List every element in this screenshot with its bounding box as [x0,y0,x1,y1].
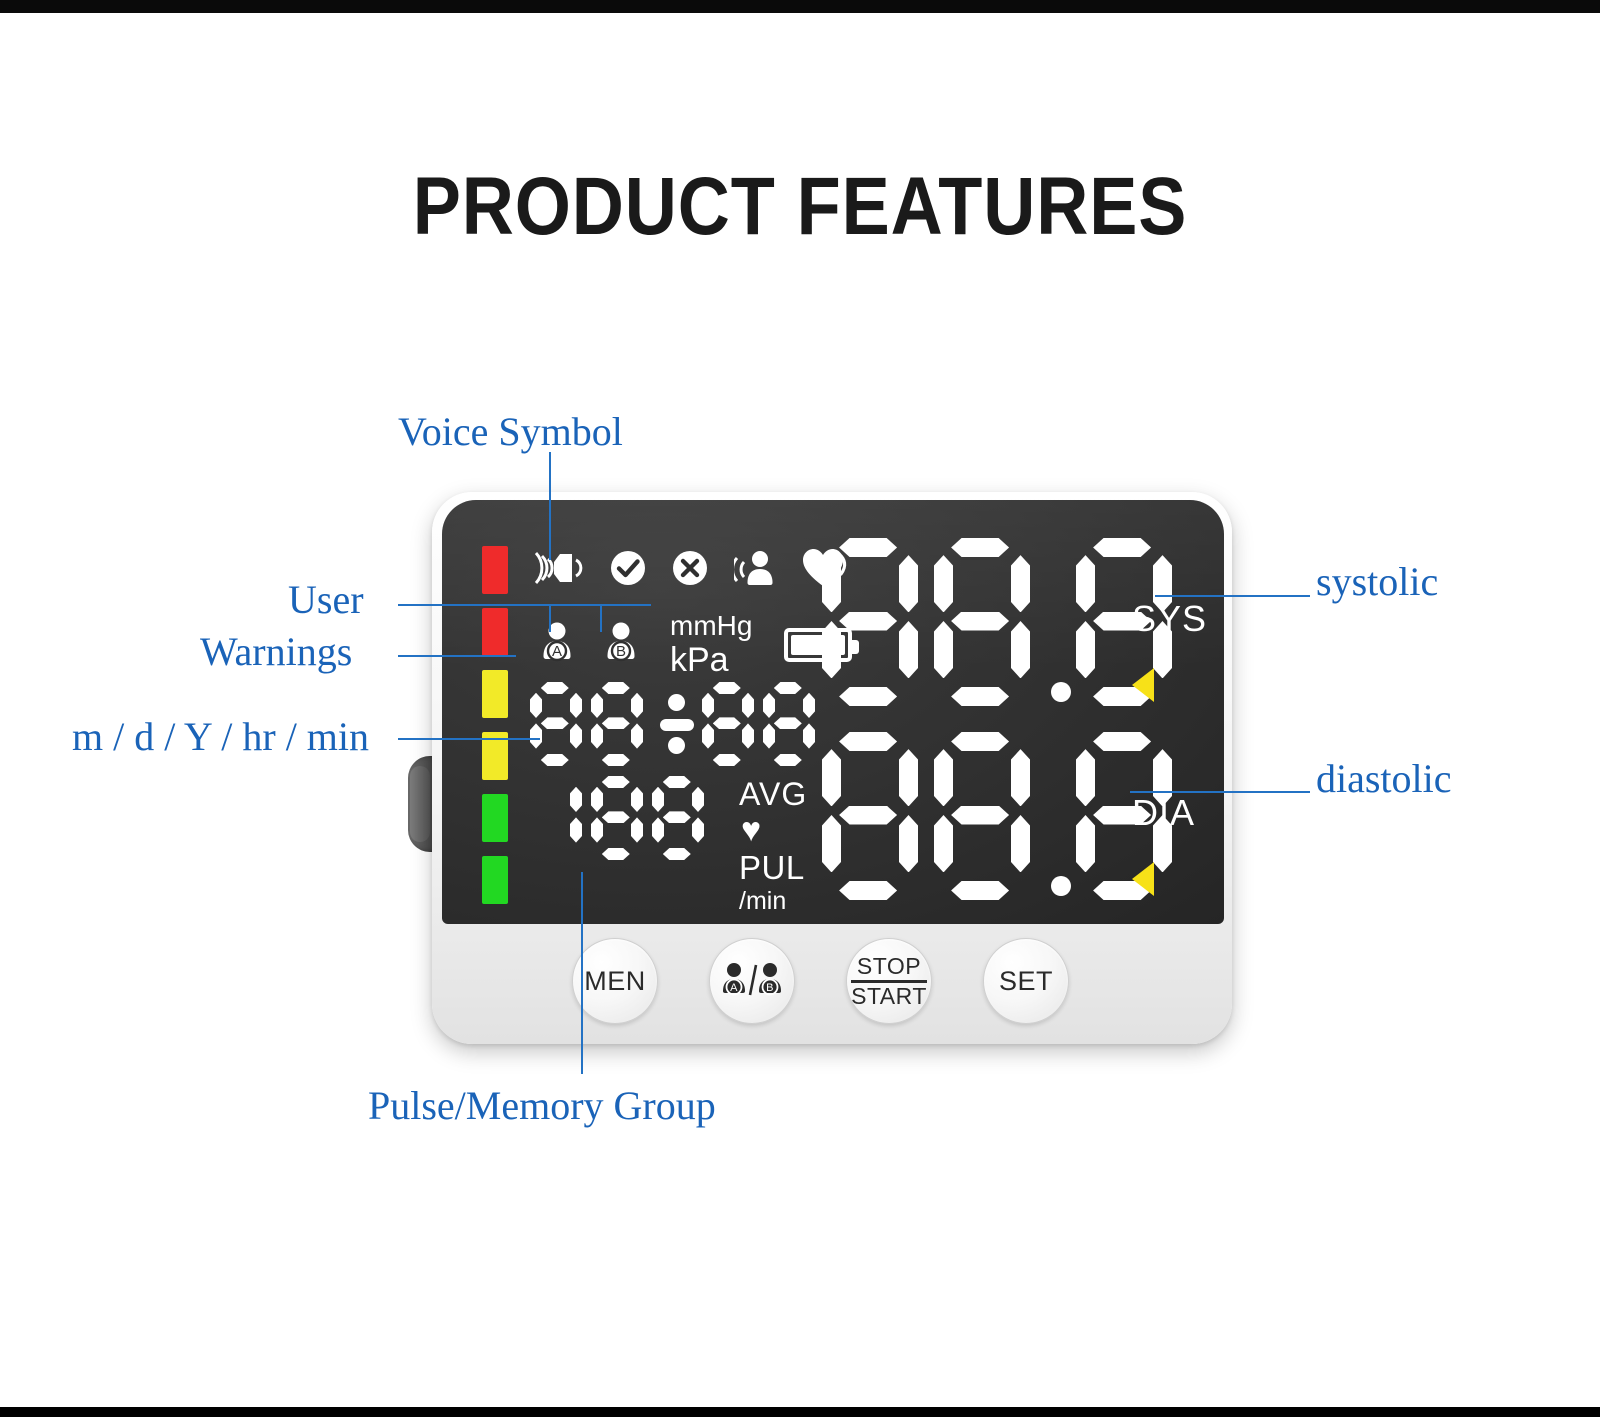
leader-diastolic [1130,791,1310,793]
user-units-row: A B mmHg kPa [534,612,852,677]
dia-label: DIA [1132,792,1195,834]
annotation-user: User [288,576,364,623]
time-hours [530,682,652,766]
leader-user-v-a [549,604,551,632]
pressure-units: mmHg kPa [670,612,752,677]
svg-text:A: A [730,982,738,994]
x-circle-icon [672,550,708,586]
user-a-icon: A [534,622,580,668]
unit-kpa: kPa [670,643,752,677]
pulse-value [530,776,713,860]
seven-seg-digit [934,732,1030,900]
heart-glyph: ♥ [741,811,761,849]
time-minutes [702,682,824,766]
letterbox-bottom [0,1407,1600,1417]
seven-seg-digit [822,538,918,706]
seven-seg-digit [934,538,1030,706]
leader-pulse [581,872,583,1074]
user-ab-icon: A B [723,961,781,1001]
leader-warnings [398,655,516,657]
leader-datetime [398,738,540,740]
leader-user-v-b [600,604,602,632]
warning-bar-red-2 [482,608,508,656]
svg-text:B: B [616,643,626,660]
seven-seg-digit [591,776,643,860]
voice-speaker-icon [534,551,584,585]
lcd-panel: A B mmHg kPa AVG ♥ PUL /min [442,500,1224,924]
check-circle-icon [610,550,646,586]
svg-text:A: A [552,643,562,660]
annotation-systolic: systolic [1316,558,1438,605]
button-row: MEN A B STOP START [432,932,1214,1044]
time-display [530,682,824,766]
memory-button[interactable]: MEN [572,938,658,1024]
seven-seg-digit [652,776,704,860]
warning-bar-green-1 [482,794,508,842]
pul-sub: /min [739,887,786,915]
pulse-readout: AVG ♥ PUL /min [530,776,807,916]
dia-indicator-triangle [1132,862,1154,896]
unit-mmhg: mmHg [670,612,752,640]
seven-seg-digit [591,682,643,766]
set-button[interactable]: SET [983,938,1069,1024]
sys-label: SYS [1132,598,1207,640]
decimal-point [1051,682,1071,702]
seven-seg-digit [530,682,582,766]
annotation-voice: Voice Symbol [398,408,623,455]
warning-bar-yellow-1 [482,670,508,718]
pulse-labels: AVG ♥ PUL /min [739,776,807,916]
pul-label: PUL [739,849,805,886]
page-title: PRODUCT FEATURES [96,160,1504,254]
decimal-point [1051,876,1071,896]
letterbox-top [0,0,1600,13]
user-b-icon: B [598,622,644,668]
leader-user-h [398,604,651,606]
leader-systolic [1155,595,1310,597]
time-separator [662,682,692,766]
seven-seg-digit [822,732,918,900]
annotation-datetime: m / d / Y / hr / min [72,713,369,760]
warning-bar-green-2 [482,856,508,904]
seven-seg-digit [702,682,754,766]
stop-start-button[interactable]: STOP START [846,938,932,1024]
warning-bar-red-1 [482,546,508,594]
seven-seg-digit [763,682,815,766]
svg-text:B: B [766,982,774,994]
leader-voice-v [549,452,551,560]
sys-indicator-triangle [1132,668,1154,702]
user-select-button[interactable]: A B [709,938,795,1024]
status-icon-row [534,548,848,588]
stop-label: STOP [851,954,927,983]
avg-label: AVG [739,776,807,812]
seven-seg-digit [530,776,582,860]
start-label: START [851,983,927,1009]
annotation-diastolic: diastolic [1316,755,1452,802]
warning-color-bars [482,546,508,918]
annotation-warnings: Warnings [200,628,352,675]
body-movement-icon [734,550,776,586]
annotation-pulse: Pulse/Memory Group [368,1082,716,1129]
